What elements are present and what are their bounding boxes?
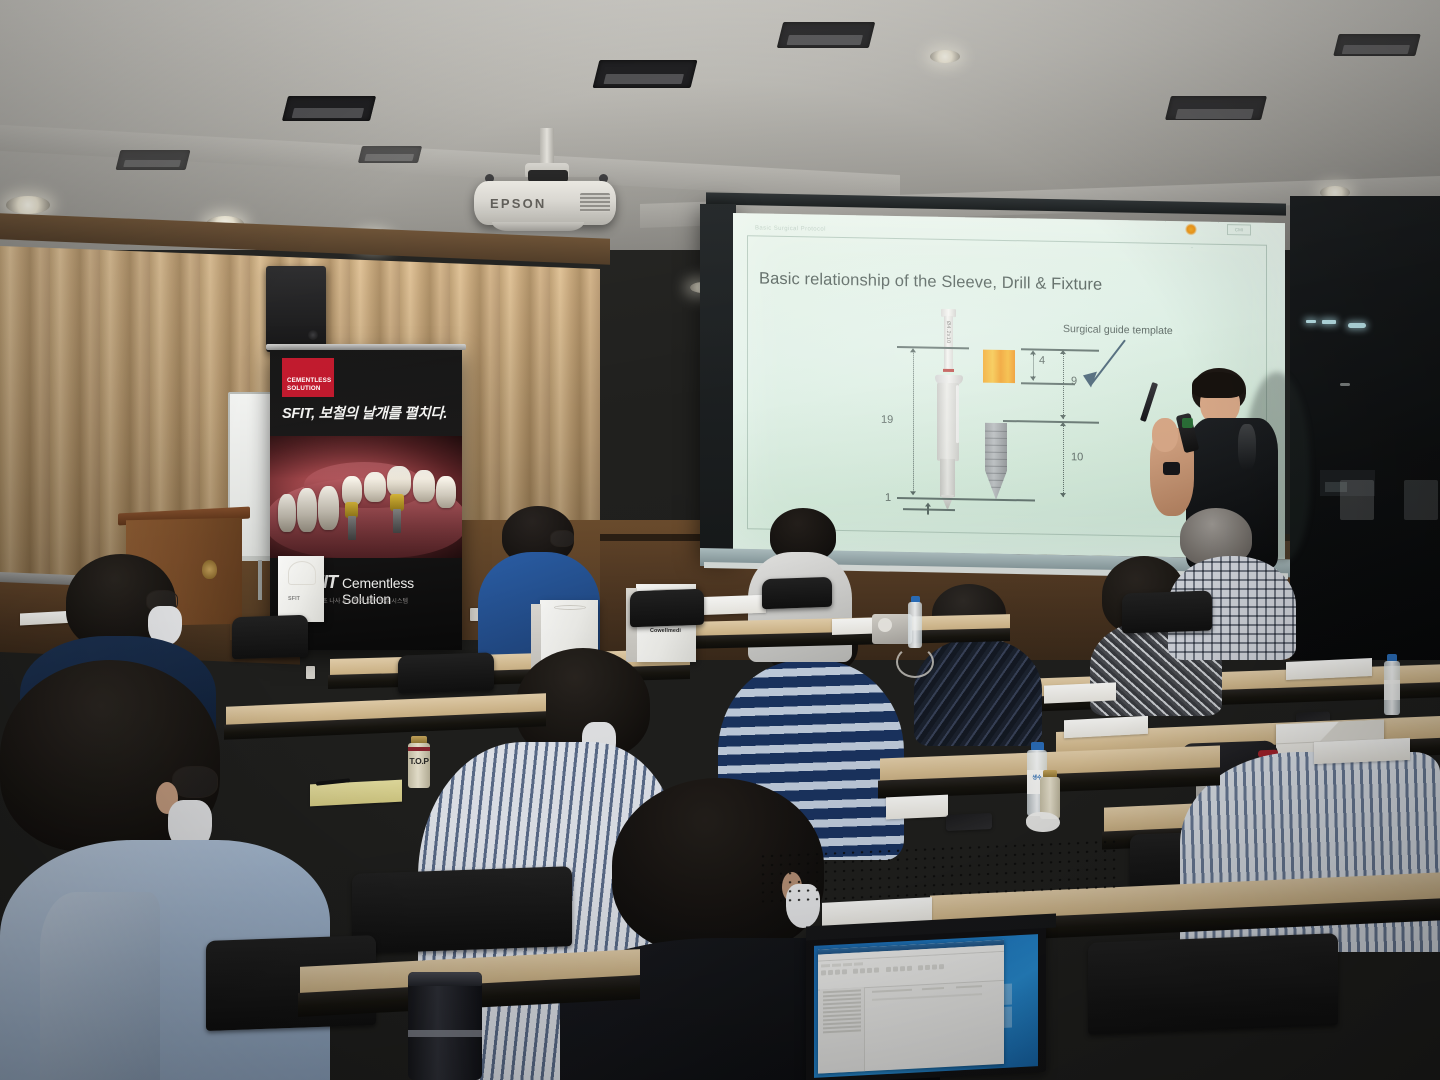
- far-monitor-2: [1404, 480, 1438, 520]
- attendee-body-dark-pattern[interactable]: [914, 638, 1042, 746]
- downlight-4: [930, 50, 960, 63]
- cementless-logo-box: CEMENTLESS SOLUTION: [282, 358, 334, 397]
- coffee-bottle-label: T.O.P: [409, 756, 429, 766]
- far-monitor-1: [1340, 480, 1374, 520]
- device-detail: [878, 618, 892, 632]
- downlight-1: [6, 196, 50, 214]
- chair-left-2[interactable]: [398, 652, 494, 693]
- dental-implant-illustration: [270, 436, 462, 558]
- chair-front-right[interactable]: [1088, 933, 1338, 1035]
- tissue-center: [1026, 812, 1060, 832]
- far-light-2: [1322, 320, 1336, 324]
- coffee-bottle-stripe: [408, 747, 430, 751]
- projector-lens-housing: [492, 222, 584, 231]
- projector-pole: [540, 128, 554, 168]
- bottle-label: [1384, 680, 1400, 700]
- right-dark-area: [1290, 196, 1440, 660]
- banner-headline: SFIT, 보철의 날개를 펼치다.: [282, 402, 447, 423]
- ceiling-vent-4: [358, 146, 422, 163]
- attendee-glasses-blue-tee: [550, 530, 574, 547]
- paper-right-b: [1314, 738, 1410, 764]
- logo-line-1: CEMENTLESS: [287, 377, 329, 384]
- presenter-hand: [1152, 418, 1178, 452]
- ceiling-vent-3: [593, 60, 698, 88]
- coffee-bottle-top: T.O.P: [405, 736, 433, 788]
- paper-right-a: [1044, 682, 1116, 703]
- gift-bag-3-handle: [288, 561, 316, 585]
- laptop-screen[interactable]: [814, 934, 1038, 1078]
- presenter-collar-highlight: [1238, 424, 1256, 470]
- dental-photo-shade: [270, 436, 462, 558]
- attendee-glasses-foreground: [172, 766, 218, 798]
- laptop[interactable]: [806, 928, 1054, 1080]
- paper-center: [886, 795, 948, 820]
- tumbler-band: [408, 1030, 482, 1037]
- projector-brand-label: EPSON: [490, 196, 547, 211]
- far-glint: [1340, 383, 1350, 386]
- ceiling-vent-1: [282, 96, 376, 121]
- banner-subtext: 세계 최초 나사 & 시멘트 없는 보철 시스템: [304, 598, 454, 607]
- projector-vent-grille: [580, 193, 610, 212]
- paper-mid-1: [696, 595, 766, 615]
- chair-left-1[interactable]: [232, 615, 308, 660]
- chair-right-1[interactable]: [1122, 590, 1212, 633]
- ceiling-vent-2: [116, 150, 191, 170]
- phone-center[interactable]: [946, 813, 992, 831]
- cable-loop: [896, 646, 934, 678]
- thermos-tumbler: [408, 972, 482, 1080]
- water-bottle-row4: [1382, 654, 1402, 716]
- lecture-hall-photo: EPSON CEMENTLESS SOLUTION SFIT, 보철의 날개: [0, 0, 1440, 1080]
- podium-emblem: [202, 560, 217, 579]
- wristwatch: [1163, 462, 1180, 475]
- ceiling-vent-6: [1165, 96, 1267, 120]
- wall-speaker: [266, 266, 326, 352]
- chair-mid-2[interactable]: [762, 577, 832, 609]
- ceiling-vent-5: [777, 22, 875, 48]
- microphone-band: [1182, 418, 1193, 428]
- shirt-fold-highlight: [40, 892, 160, 1080]
- bottle-mid-body: [908, 602, 922, 648]
- gift-bag-3-brand: SFIT: [288, 596, 300, 602]
- wall-outlet-left: [306, 666, 315, 679]
- chair-front-left[interactable]: [352, 866, 572, 954]
- tumbler-lid: [408, 972, 482, 986]
- gift-bag-2-handle: [554, 605, 586, 610]
- whiteboard-leg: [258, 560, 262, 600]
- water-bottle-mid: [906, 596, 924, 648]
- gift-bag-1-brand: Cowellmedi: [650, 628, 681, 634]
- far-light-1: [1306, 320, 1316, 323]
- ceiling-vent-7: [1333, 34, 1420, 56]
- logo-line-2: SOLUTION: [287, 385, 329, 392]
- speaker-cone: [308, 330, 318, 340]
- chair-mid-1[interactable]: [630, 589, 704, 628]
- screen-left-frame: [700, 204, 736, 556]
- gift-bag-3[interactable]: SFIT: [278, 556, 324, 622]
- app-window[interactable]: [818, 940, 1004, 1074]
- far-light-3: [1348, 323, 1366, 328]
- presenter-fringe: [1192, 372, 1244, 398]
- app-sidebar[interactable]: [820, 987, 865, 1073]
